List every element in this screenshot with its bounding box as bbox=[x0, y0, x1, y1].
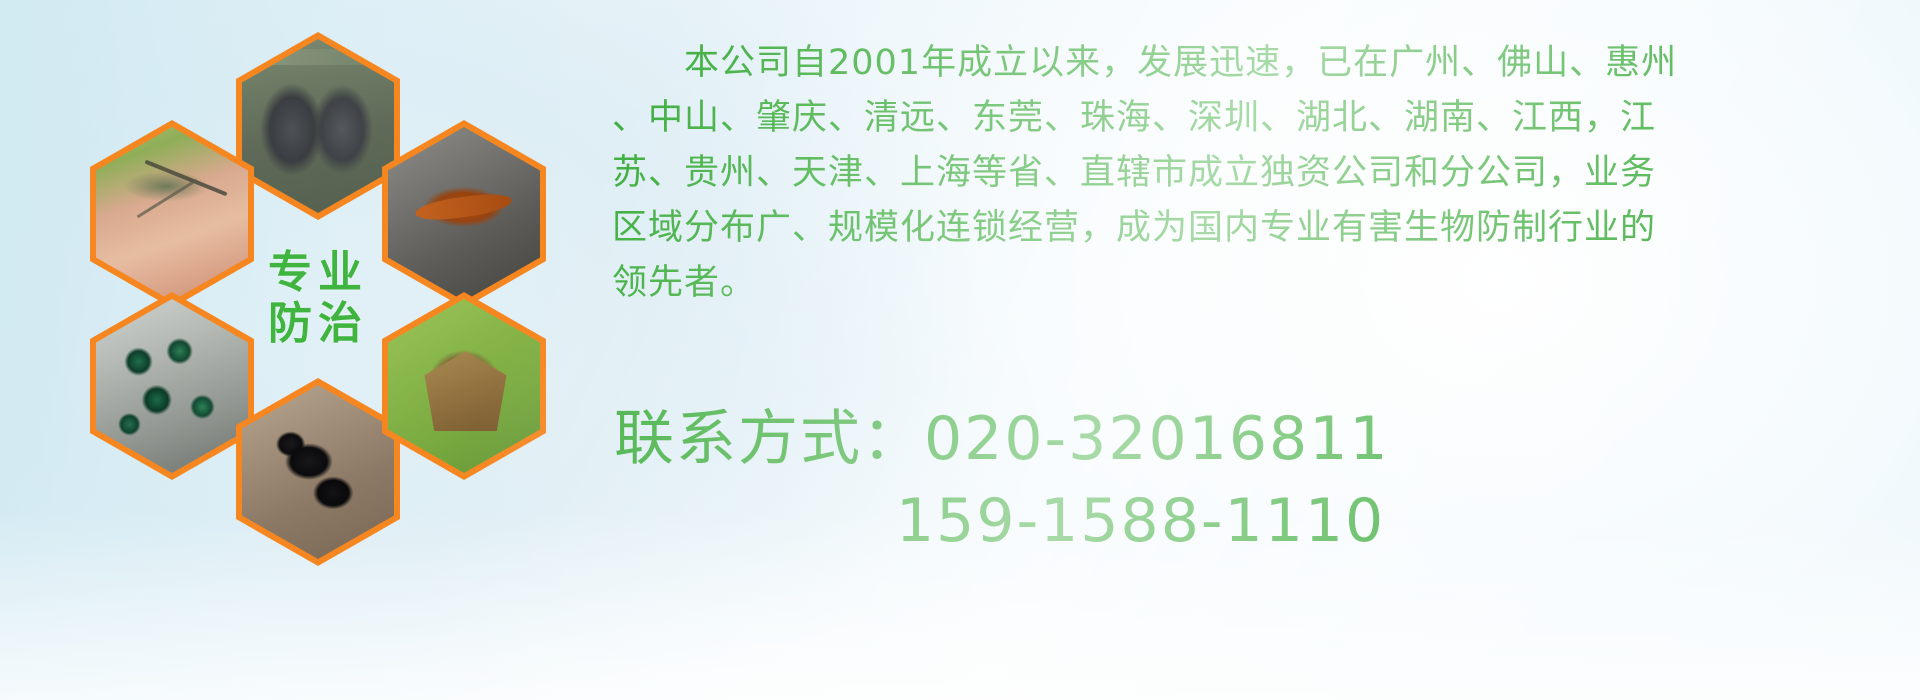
description-line: 、中山、肇庆、清远、东莞、珠海、深圳、湖北、湖南、江西，江 bbox=[612, 91, 1908, 146]
cockroach-photo-hexagon bbox=[382, 120, 546, 308]
center-slogan-hexagon: 专业 防治 bbox=[236, 205, 400, 393]
company-description: 本公司自2001年成立以来，发展迅速，已在广州、佛山、惠州 、中山、肇庆、清远、… bbox=[612, 36, 1908, 311]
contact-label: 联系方式： bbox=[614, 404, 924, 474]
rat-photo bbox=[242, 39, 394, 213]
fly-photo bbox=[96, 299, 248, 473]
hexagon-photo-cluster: 专业 防治 bbox=[90, 10, 590, 570]
ant-photo-hexagon bbox=[236, 378, 400, 566]
promo-banner: 专业 防治 本公司自2001年成立以来，发展迅速，已在广州、佛山、惠州 、中山、… bbox=[0, 0, 1920, 700]
description-line: 领先者。 bbox=[612, 256, 1908, 311]
cockroach-photo bbox=[388, 127, 540, 301]
mosquito-photo-hexagon bbox=[90, 120, 254, 308]
contact-block: 联系方式：020-32016811 159-1588-1110 bbox=[614, 398, 1914, 562]
mosquito-photo bbox=[96, 127, 248, 301]
contact-primary-line: 联系方式：020-32016811 bbox=[614, 398, 1914, 480]
description-line: 区域分布广、规模化连锁经营，成为国内专业有害生物防制行业的 bbox=[612, 201, 1908, 256]
slogan-line-2: 防治 bbox=[268, 298, 368, 349]
contact-landline[interactable]: 020-32016811 bbox=[924, 404, 1390, 474]
contact-mobile[interactable]: 159-1588-1110 bbox=[614, 480, 1914, 562]
rat-photo-hexagon bbox=[236, 32, 400, 220]
stinkbug-photo bbox=[388, 299, 540, 473]
slogan-line-1: 专业 bbox=[268, 247, 368, 298]
description-line: 苏、贵州、天津、上海等省、直辖市成立独资公司和分公司，业务 bbox=[612, 146, 1908, 201]
fly-photo-hexagon bbox=[90, 292, 254, 480]
ant-photo bbox=[242, 385, 394, 559]
description-line: 本公司自2001年成立以来，发展迅速，已在广州、佛山、惠州 bbox=[612, 36, 1908, 91]
stinkbug-photo-hexagon bbox=[382, 292, 546, 480]
slogan-text: 专业 防治 bbox=[268, 248, 368, 349]
